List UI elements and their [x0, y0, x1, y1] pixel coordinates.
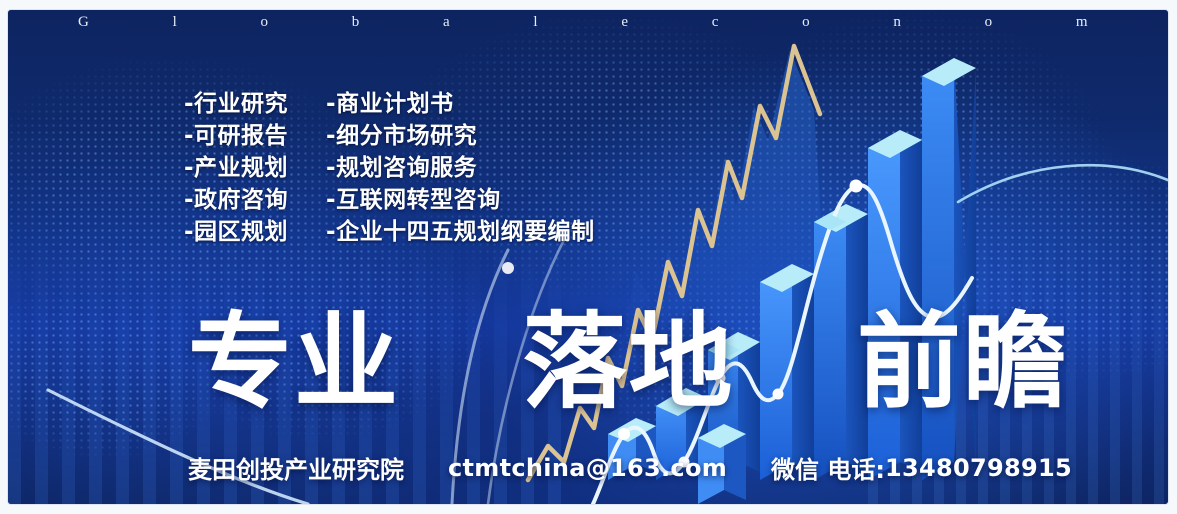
services-right-column: -商业计划书 -细分市场研究 -规划咨询服务 -互联网转型咨询 -企业十四五规划… — [326, 90, 595, 247]
headline-word-2: 落地 — [522, 301, 734, 423]
email-address: ctmtchina@163.com — [448, 454, 727, 482]
headline-word-3: 前瞻 — [857, 301, 1069, 423]
chart-point-dot — [618, 428, 630, 440]
chart-graphic — [8, 10, 1168, 504]
service-item: -规划咨询服务 — [326, 154, 595, 183]
service-item: -产业规划 — [184, 154, 288, 183]
top-caption: G l o b a l e c o n o m y — [78, 14, 1108, 31]
chart-point-dot — [502, 262, 514, 274]
banner-panel: G l o b a l e c o n o m y -行业研究 -可研报告 -产… — [8, 10, 1168, 504]
services-list: -行业研究 -可研报告 -产业规划 -政府咨询 -园区规划 -商业计划书 -细分… — [184, 90, 595, 247]
service-item: -可研报告 — [184, 122, 288, 151]
headline-word-1: 专业 — [188, 301, 400, 423]
service-item: -行业研究 — [184, 90, 288, 119]
chart-point-dot — [850, 180, 863, 193]
headline: 专业 落地 前瞻 — [188, 310, 1069, 414]
service-item: -互联网转型咨询 — [326, 186, 595, 215]
phone-number: 13480798915 — [885, 454, 1072, 482]
service-item: -商业计划书 — [326, 90, 595, 119]
service-item: -细分市场研究 — [326, 122, 595, 151]
service-item: -政府咨询 — [184, 186, 288, 215]
service-item: -园区规划 — [184, 218, 288, 247]
company-name: 麦田创投产业研究院 — [188, 450, 404, 485]
services-left-column: -行业研究 -可研报告 -产业规划 -政府咨询 -园区规划 — [184, 90, 288, 247]
chart-arc-light — [958, 165, 1168, 202]
banner-root: G l o b a l e c o n o m y -行业研究 -可研报告 -产… — [0, 0, 1177, 514]
footer-contact: 麦田创投产业研究院 ctmtchina@163.com 微信 电话: 13480… — [188, 450, 1072, 485]
service-item: -企业十四五规划纲要编制 — [326, 218, 595, 247]
contact-label: 微信 电话: — [771, 450, 885, 485]
